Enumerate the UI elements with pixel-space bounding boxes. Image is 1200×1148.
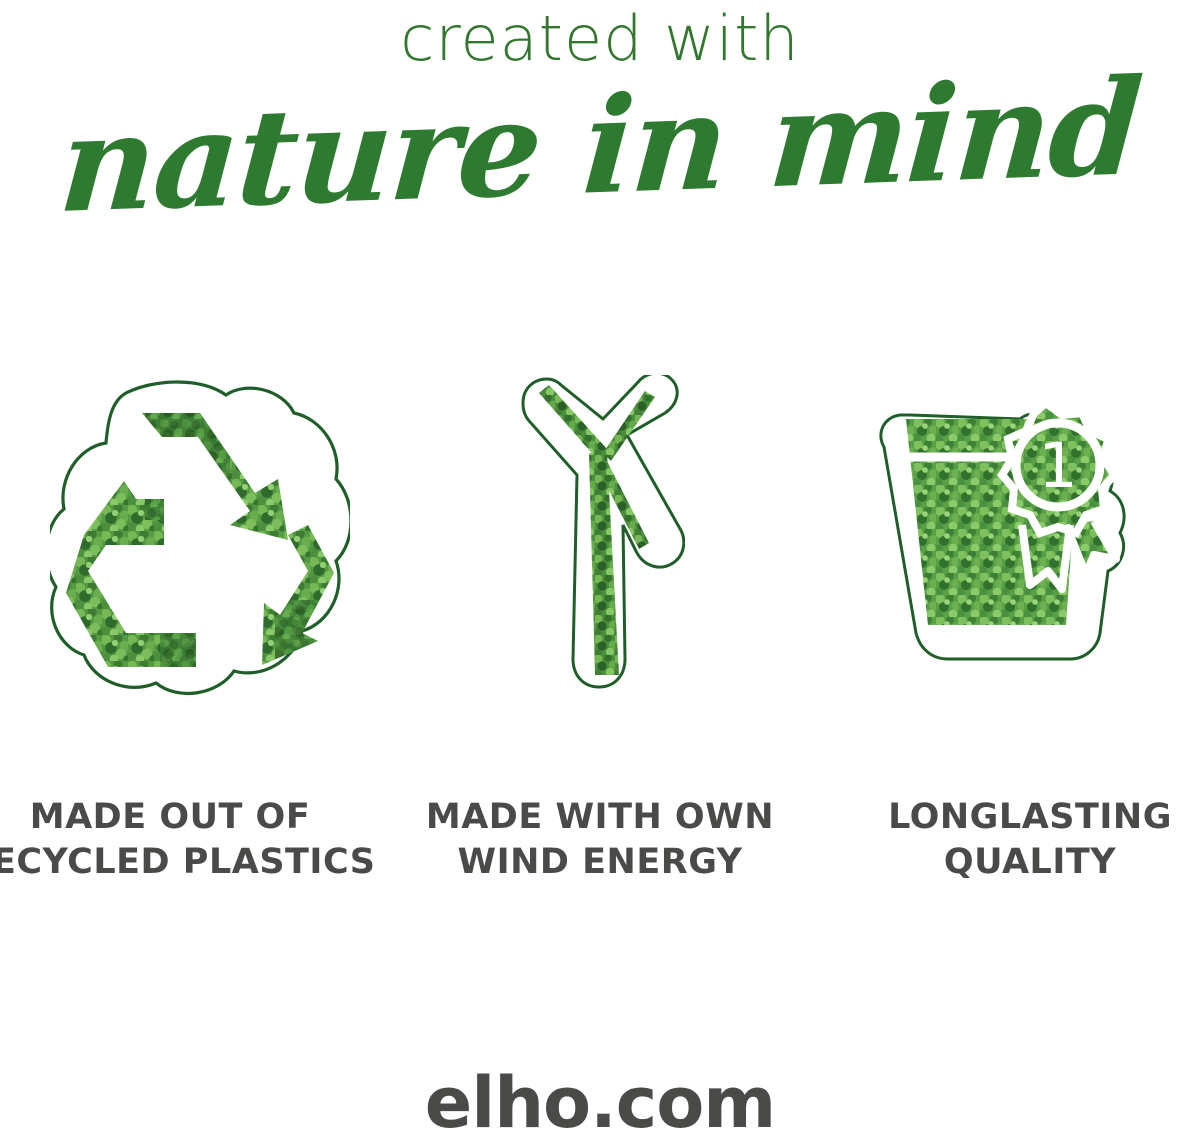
feature-recycled-plastics: MADE OUT OF RECYCLED PLASTICS xyxy=(0,370,400,890)
brand-logo[interactable]: elho.com xyxy=(0,1068,1200,1138)
page-subtitle-script: nature in mind xyxy=(0,57,1200,238)
poster: created with nature in mind xyxy=(0,0,1200,1148)
feature-label-wind-energy: MADE WITH OWN WIND ENERGY xyxy=(360,795,840,885)
feature-label-recycled-plastics: MADE OUT OF RECYCLED PLASTICS xyxy=(0,795,410,885)
wind-turbine-icon xyxy=(515,375,685,705)
feature-label-longlasting-quality: LONGLASTING QUALITY xyxy=(790,795,1200,885)
feature-row: MADE OUT OF RECYCLED PLASTICS xyxy=(0,370,1200,890)
footer: elho.com xyxy=(0,1068,1200,1138)
pot-award-icon: 1 xyxy=(870,375,1130,705)
headline-block: created with nature in mind xyxy=(0,0,1200,250)
feature-wind-energy: MADE WITH OWN WIND ENERGY xyxy=(400,370,800,890)
recycle-icon-wrap xyxy=(50,370,350,710)
recycle-icon xyxy=(50,375,350,705)
award-badge-number: 1 xyxy=(1038,429,1077,502)
feature-longlasting-quality: 1 LONGLASTING QUALITY xyxy=(800,370,1200,890)
wind-turbine-icon-wrap xyxy=(515,370,685,710)
pot-award-icon-wrap: 1 xyxy=(870,370,1130,710)
